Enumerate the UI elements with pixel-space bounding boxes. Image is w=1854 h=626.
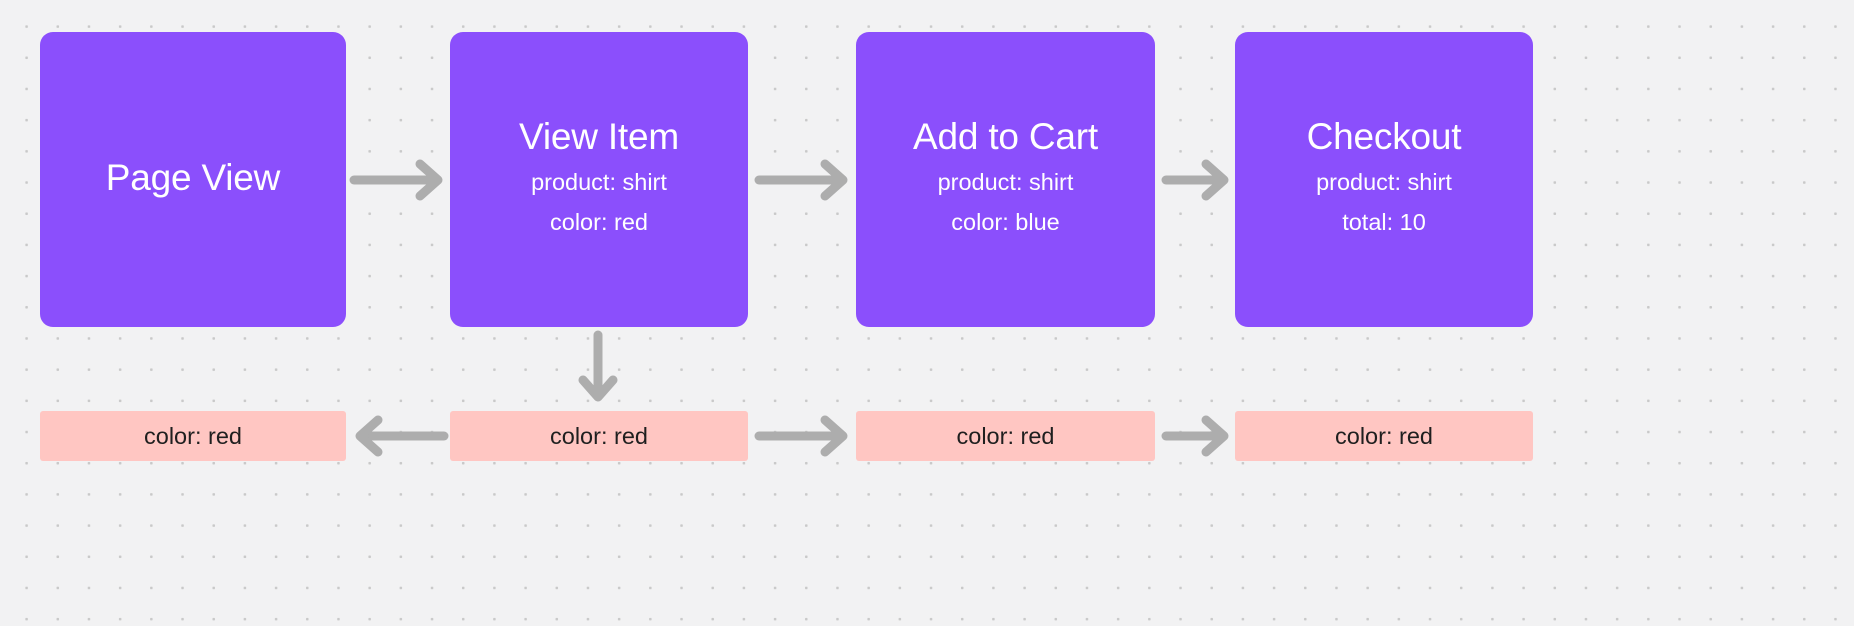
property-box-1[interactable]: color: red bbox=[40, 411, 346, 461]
node-add-to-cart[interactable]: Add to Cart product: shirt color: blue bbox=[856, 32, 1155, 327]
edge-pageview-to-viewitem-arrow-icon bbox=[352, 160, 446, 200]
edge-addtocart-to-checkout-arrow-icon bbox=[1164, 160, 1232, 200]
node-view-item[interactable]: View Item product: shirt color: red bbox=[450, 32, 748, 327]
edge-viewitem-to-addtocart-arrow-icon bbox=[757, 160, 851, 200]
node-title: Checkout bbox=[1307, 116, 1462, 157]
node-property: product: shirt bbox=[938, 162, 1074, 202]
node-property: color: red bbox=[550, 202, 648, 242]
node-page-view[interactable]: Page View bbox=[40, 32, 346, 327]
node-title: Add to Cart bbox=[913, 116, 1098, 157]
edge-prop2-to-prop3-arrow-icon bbox=[757, 416, 851, 456]
node-title: View Item bbox=[519, 116, 679, 157]
node-checkout[interactable]: Checkout product: shirt total: 10 bbox=[1235, 32, 1533, 327]
node-properties: product: shirt total: 10 bbox=[1316, 162, 1452, 243]
node-properties: product: shirt color: blue bbox=[938, 162, 1074, 243]
node-property: color: blue bbox=[951, 202, 1059, 242]
node-properties: product: shirt color: red bbox=[531, 162, 667, 243]
flow-canvas[interactable]: Page View View Item product: shirt color… bbox=[0, 0, 1854, 626]
edge-prop3-to-prop4-arrow-icon bbox=[1164, 416, 1232, 456]
edge-viewitem-to-prop2-arrow-icon bbox=[578, 333, 618, 405]
property-box-label: color: red bbox=[144, 423, 242, 450]
property-box-3[interactable]: color: red bbox=[856, 411, 1155, 461]
node-property: product: shirt bbox=[531, 162, 667, 202]
edge-prop2-to-prop1-arrow-icon bbox=[352, 416, 446, 456]
node-property: product: shirt bbox=[1316, 162, 1452, 202]
property-box-4[interactable]: color: red bbox=[1235, 411, 1533, 461]
property-box-label: color: red bbox=[957, 423, 1055, 450]
node-title: Page View bbox=[106, 157, 280, 198]
property-box-2[interactable]: color: red bbox=[450, 411, 748, 461]
property-box-label: color: red bbox=[1335, 423, 1433, 450]
node-property: total: 10 bbox=[1342, 202, 1426, 242]
property-box-label: color: red bbox=[550, 423, 648, 450]
